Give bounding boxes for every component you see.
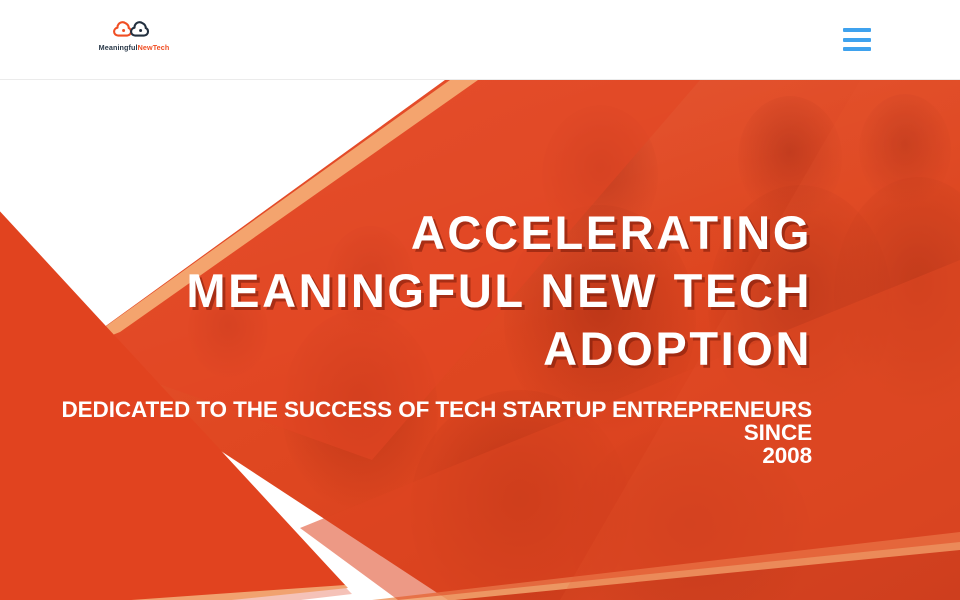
site-header: MeaningfulNewTech [0,0,960,80]
logo-wordmark-primary: Meaningful [99,43,138,52]
menu-bar-top [843,28,871,32]
site-logo[interactable]: MeaningfulNewTech [104,20,164,62]
hero-background-artwork [0,80,960,600]
landing-page: MeaningfulNewTech [0,0,960,600]
menu-bar-bottom [843,47,871,51]
logo-wordmark-secondary: NewTech [138,43,170,52]
logo-wordmark: MeaningfulNewTech [99,44,170,51]
hero-section: ACCELERATING MEANINGFUL NEW TECH ADOPTIO… [0,80,960,600]
menu-bar-middle [843,38,871,42]
hamburger-menu-icon[interactable] [843,28,871,51]
double-heart-cloud-logo-icon [112,20,156,42]
